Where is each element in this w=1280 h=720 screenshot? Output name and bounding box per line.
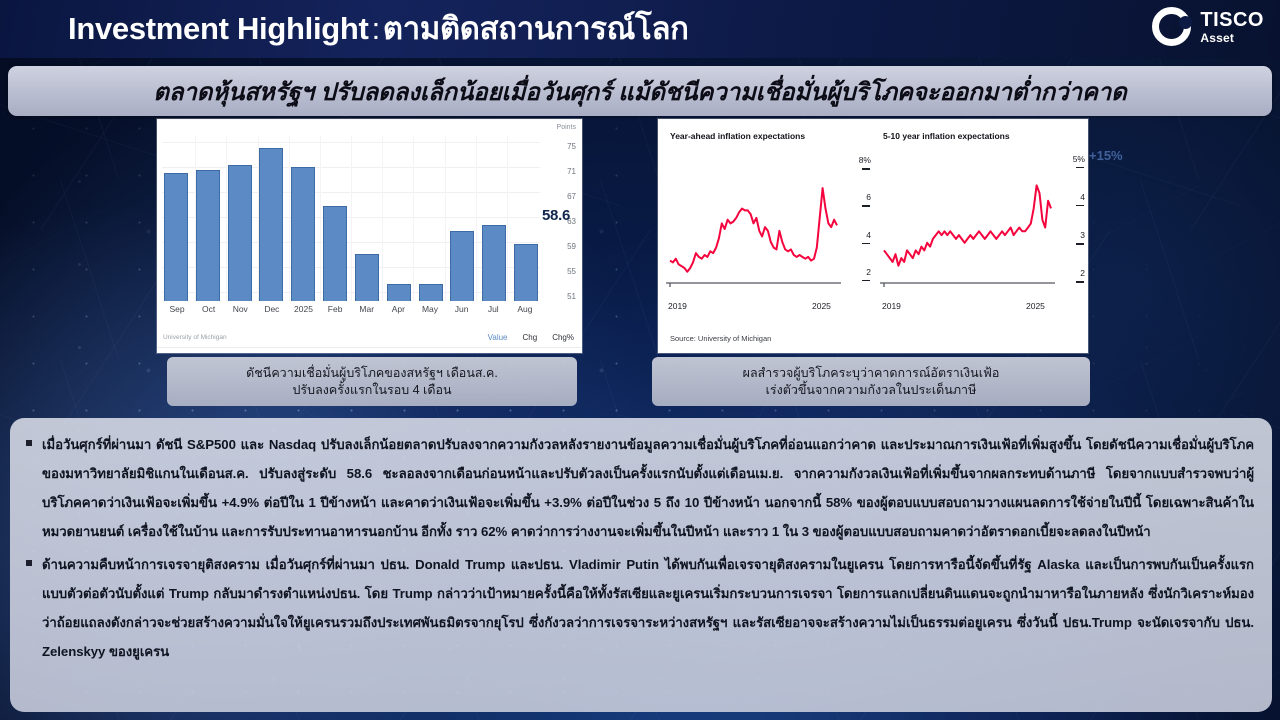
y-tick-label: 3 xyxy=(1080,230,1085,240)
page-title: Investment Highlight:ตามติดสถานการณ์โลก xyxy=(68,5,689,53)
bar-chart-x-axis-labels: SepOctNovDec2025FebMarAprMayJunJulAug xyxy=(162,304,540,314)
bar-Sep[interactable] xyxy=(164,173,188,301)
x-tick-label: Dec xyxy=(259,304,285,314)
latest-value-callout: 58.6 xyxy=(542,207,570,224)
consumer-sentiment-bar-chart: Points SepOctNovDec2025FebMarAprMayJunJu… xyxy=(157,119,582,353)
page-title-separator: : xyxy=(369,11,383,46)
y-tick-label: 6 xyxy=(866,192,871,202)
x-tick-label: May xyxy=(417,304,443,314)
bar-2025[interactable] xyxy=(291,167,315,301)
bullet-square-icon xyxy=(26,440,32,446)
line-chart-b-y-ticks: 5%432 xyxy=(1057,147,1085,297)
chart-footer-divider xyxy=(157,347,582,348)
page-title-en: Investment Highlight xyxy=(68,11,369,46)
chart-unit-label: Points xyxy=(557,124,576,131)
page-title-th: ตามติดสถานการณ์โลก xyxy=(383,11,689,46)
bullet-square-icon xyxy=(26,560,32,566)
percent-watermark: +15% xyxy=(1089,148,1123,163)
caption-right: ผลสำรวจผู้บริโภคระบุว่าคาดการณ์อัตราเงิน… xyxy=(652,357,1090,406)
x-tick-label: 2025 xyxy=(291,304,317,314)
bar-Dec[interactable] xyxy=(259,148,283,301)
y-tick-label: 71 xyxy=(567,167,576,176)
headline-text: ตลาดหุ้นสหรัฐฯ ปรับลดลงเล็กน้อยเมื่อวันศ… xyxy=(153,72,1126,111)
line-chart-b-x-start: 2019 xyxy=(882,301,901,311)
y-tick-label: 8% xyxy=(859,155,871,165)
bullet-item: ด้านความคืบหน้าการเจรจายุติสงคราม เมื่อว… xyxy=(26,550,1254,666)
x-tick-label: Jul xyxy=(480,304,506,314)
inflation-expectations-chart: Year-ahead inflation expectations 5-10 y… xyxy=(658,119,1088,353)
line-series-path xyxy=(670,188,837,272)
x-tick-label: Mar xyxy=(354,304,380,314)
bar-Apr[interactable] xyxy=(387,284,411,301)
line-chart-a-y-ticks: 8%642 xyxy=(843,147,871,297)
legend-item-chgpct[interactable]: Chg% xyxy=(552,333,574,342)
y-tick-label: 4 xyxy=(1080,192,1085,202)
logo-brand-sub: Asset xyxy=(1200,32,1264,44)
line-chart-b-plot xyxy=(880,147,1055,297)
line-chart-a-title: Year-ahead inflation expectations xyxy=(670,131,805,141)
line-series-path xyxy=(884,185,1051,265)
y-tick-label: 51 xyxy=(567,292,576,301)
bar-chart-legend: Value Chg Chg% xyxy=(488,333,574,342)
caption-left-line2: ปรับลงครั้งแรกในรอบ 4 เดือน xyxy=(292,382,451,399)
y-tick-label: 5% xyxy=(1073,154,1085,164)
bar-chart-bars xyxy=(162,136,540,301)
legend-item-value[interactable]: Value xyxy=(488,333,508,342)
body-text-panel: เมื่อวันศุกร์ที่ผ่านมา ดัชนี S&P500 และ … xyxy=(10,418,1272,712)
logo-text-block: TISCO Asset xyxy=(1200,10,1264,44)
tisco-ring-logo-icon xyxy=(1152,7,1191,46)
y-tick-label: 4 xyxy=(866,230,871,240)
bar-Feb[interactable] xyxy=(323,206,347,301)
bar-May[interactable] xyxy=(419,284,443,301)
bar-Oct[interactable] xyxy=(196,170,220,301)
bullet-text: ด้านความคืบหน้าการเจรจายุติสงคราม เมื่อว… xyxy=(42,550,1254,666)
y-tick-dash xyxy=(1076,205,1084,206)
y-tick-label: 67 xyxy=(567,192,576,201)
y-tick-dash xyxy=(862,168,870,169)
logo-brand-name: TISCO xyxy=(1200,10,1264,30)
x-tick-label: Nov xyxy=(227,304,253,314)
y-tick-dash xyxy=(862,280,870,281)
caption-left-line1: ดัชนีความเชื่อมั่นผู้บริโภคของสหรัฐฯ เดื… xyxy=(246,365,498,382)
bar-chart-plot-area xyxy=(162,136,540,301)
x-tick-label: Feb xyxy=(322,304,348,314)
line-chart-b-title: 5-10 year inflation expectations xyxy=(883,131,1010,141)
y-tick-dash xyxy=(862,205,870,206)
y-tick-label: 59 xyxy=(567,242,576,251)
y-tick-dash xyxy=(1076,243,1084,244)
line-chart-a-x-end: 2025 xyxy=(812,301,831,311)
y-tick-dash xyxy=(1076,167,1084,168)
bar-Mar[interactable] xyxy=(355,254,379,301)
bar-Jul[interactable] xyxy=(482,225,506,301)
y-tick-label: 55 xyxy=(567,267,576,276)
bar-Aug[interactable] xyxy=(514,244,538,301)
line-chart-a-x-start: 2019 xyxy=(668,301,687,311)
line-chart-b-x-end: 2025 xyxy=(1026,301,1045,311)
y-tick-label: 75 xyxy=(567,142,576,151)
bullet-item: เมื่อวันศุกร์ที่ผ่านมา ดัชนี S&P500 และ … xyxy=(26,430,1254,546)
bar-Jun[interactable] xyxy=(450,231,474,301)
x-tick-label: Apr xyxy=(385,304,411,314)
bar-chart-source: University of Michigan xyxy=(163,334,227,341)
caption-right-line2: เร่งตัวขึ้นจากความกังวลในประเด็นภาษี xyxy=(766,382,977,399)
y-tick-label: 2 xyxy=(866,267,871,277)
caption-left: ดัชนีความเชื่อมั่นผู้บริโภคของสหรัฐฯ เดื… xyxy=(167,357,577,406)
headline-banner: ตลาดหุ้นสหรัฐฯ ปรับลดลงเล็กน้อยเมื่อวันศ… xyxy=(8,66,1272,116)
x-tick-label: Sep xyxy=(164,304,190,314)
x-tick-label: Jun xyxy=(449,304,475,314)
line-chart-a-plot xyxy=(666,147,841,297)
y-tick-label: 2 xyxy=(1080,268,1085,278)
brand-logo: TISCO Asset xyxy=(1152,7,1264,46)
bullet-text: เมื่อวันศุกร์ที่ผ่านมา ดัชนี S&P500 และ … xyxy=(42,430,1254,546)
caption-right-line1: ผลสำรวจผู้บริโภคระบุว่าคาดการณ์อัตราเงิน… xyxy=(743,365,1000,382)
bar-Nov[interactable] xyxy=(228,165,252,301)
y-tick-dash xyxy=(1076,281,1084,282)
legend-item-chg[interactable]: Chg xyxy=(523,333,538,342)
slide-header: Investment Highlight:ตามติดสถานการณ์โลก … xyxy=(0,0,1280,58)
x-tick-label: Aug xyxy=(512,304,538,314)
y-tick-dash xyxy=(862,243,870,244)
line-chart-source: Source: University of Michigan xyxy=(670,334,771,343)
x-tick-label: Oct xyxy=(196,304,222,314)
